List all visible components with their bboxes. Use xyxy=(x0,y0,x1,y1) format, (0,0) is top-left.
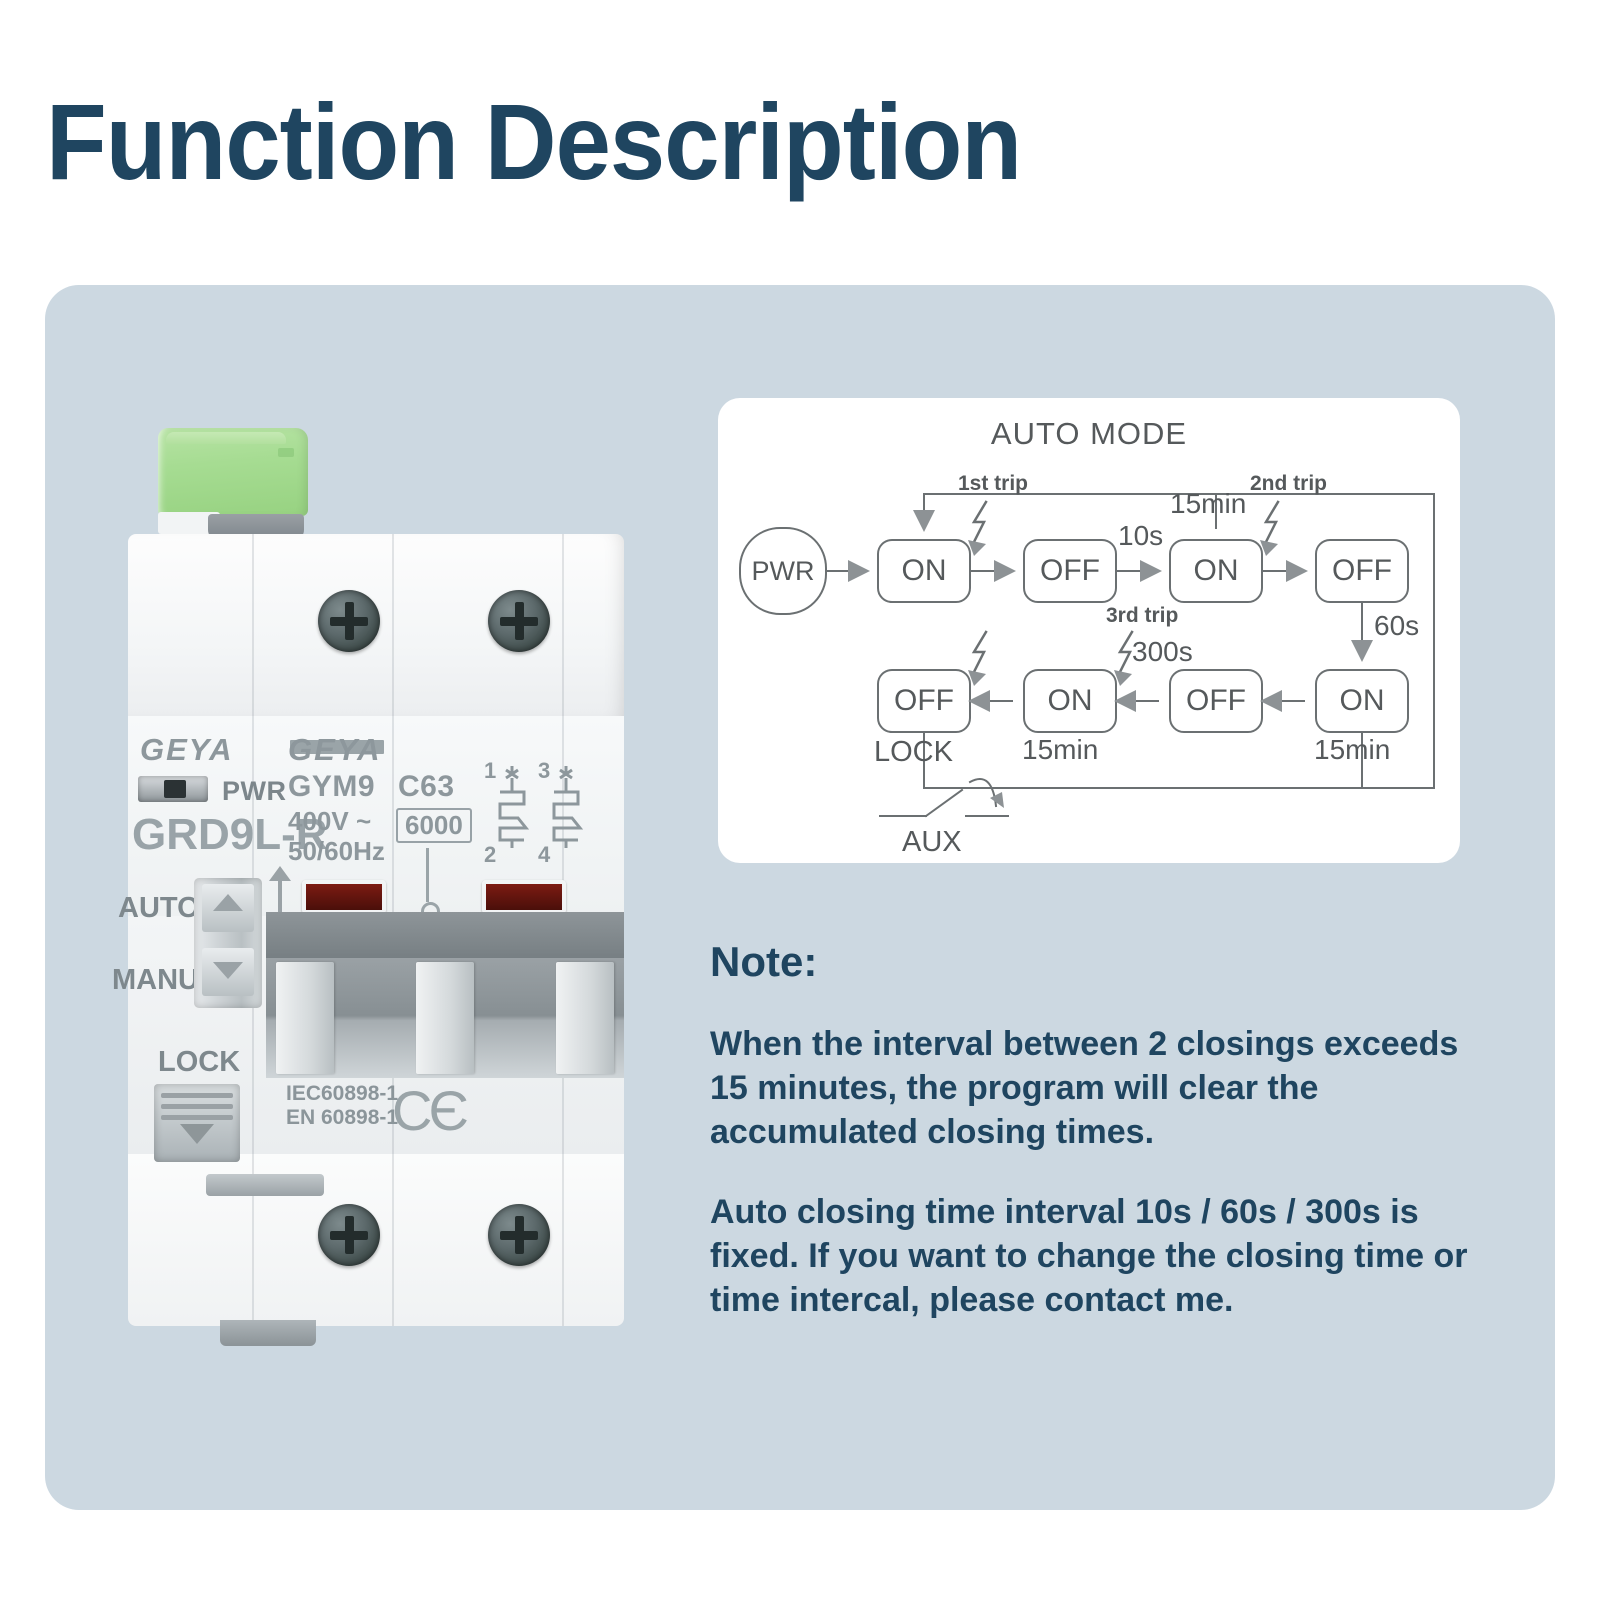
lever-position-marking xyxy=(426,848,429,902)
series-label: GYM9 xyxy=(288,770,375,804)
diagram-label-15min-b: 15min xyxy=(1022,734,1098,766)
ce-mark-icon: CЄ xyxy=(392,1078,465,1143)
auto-mode-diagram-card: AUTO MODE xyxy=(718,398,1460,863)
brand-logo-left: GEYA xyxy=(140,732,234,768)
manual-mode-label: MANU xyxy=(112,964,199,997)
power-led-window xyxy=(138,776,208,802)
diagram-node-off-1: OFF xyxy=(1024,540,1116,602)
screw-terminal-top-left xyxy=(318,590,380,652)
din-rail-clip-upper xyxy=(206,1174,324,1196)
screw-terminal-top-right xyxy=(488,590,550,652)
auto-manu-selector-switch[interactable] xyxy=(194,878,262,1008)
diagram-node-on-2: ON xyxy=(1170,540,1262,602)
page-title: Function Description xyxy=(46,88,1021,196)
diagram-label-2nd-trip: 2nd trip xyxy=(1250,472,1327,496)
diagram-label-15min-a: 15min xyxy=(1170,488,1246,520)
auto-mode-label: AUTO xyxy=(118,892,200,925)
diagram-node-off-3: OFF xyxy=(1170,670,1262,732)
toggle-lever[interactable] xyxy=(416,962,474,1074)
status-indicator-window-left xyxy=(302,880,386,914)
voltage-label: 400V ~ xyxy=(288,806,371,837)
diagram-label-15min-c: 15min xyxy=(1314,734,1390,766)
din-rail-clip-lower xyxy=(220,1320,316,1346)
screw-terminal-bottom-right xyxy=(488,1204,550,1266)
lock-label: LOCK xyxy=(158,1046,240,1079)
frequency-label: 50/60Hz xyxy=(288,836,385,867)
terminal-schematic-print: 1 3 2 4 xyxy=(482,762,592,868)
screw-terminal-bottom-left xyxy=(318,1204,380,1266)
standard-iec: IEC60898-1 xyxy=(286,1082,398,1106)
diagram-label-aux: AUX xyxy=(902,826,962,859)
toggle-shroud xyxy=(266,912,624,958)
selector-down-button[interactable] xyxy=(202,948,254,996)
toggle-lever-area[interactable] xyxy=(266,958,624,1078)
breaker-contact-symbol xyxy=(482,762,592,868)
diagram-node-on-4: ON xyxy=(1024,670,1116,732)
selector-up-button[interactable] xyxy=(202,884,254,932)
note-paragraph-1: When the interval between 2 closings exc… xyxy=(710,1022,1480,1155)
diagram-label-300s: 300s xyxy=(1132,636,1193,668)
diagram-label-60s: 60s xyxy=(1374,610,1419,642)
diagram-node-off-4: OFF xyxy=(878,670,970,732)
pwr-label: PWR xyxy=(222,776,287,807)
diagram-node-off-2: OFF xyxy=(1316,540,1408,602)
note-heading: Note: xyxy=(710,938,817,986)
diagram-label-1st-trip: 1st trip xyxy=(958,472,1028,496)
breaking-capacity-label: 6000 xyxy=(396,808,472,843)
toggle-lever[interactable] xyxy=(276,962,334,1074)
diagram-node-on-3: ON xyxy=(1316,670,1408,732)
standards-print: IEC60898-1 EN 60898-1 xyxy=(286,1082,398,1130)
toggle-lever[interactable] xyxy=(556,962,614,1074)
brand-logo-right: GEYA xyxy=(288,732,382,768)
diagram-label-lock: LOCK xyxy=(874,736,953,769)
diagram-label-10s: 10s xyxy=(1118,520,1163,552)
product-image: GEYA GEYA PWR GRD9L-R GYM9 400V ~ 50/60H… xyxy=(110,418,630,1368)
note-paragraph-2: Auto closing time interval 10s / 60s / 3… xyxy=(710,1190,1480,1323)
lock-slider[interactable] xyxy=(154,1084,240,1162)
status-indicator-window-right xyxy=(482,880,566,914)
standard-en: EN 60898-1 xyxy=(286,1106,398,1130)
curve-rating-label: C63 xyxy=(398,770,455,804)
green-terminal-cap xyxy=(158,428,308,516)
diagram-node-on-1: ON xyxy=(878,540,970,602)
diagram-label-3rd-trip: 3rd trip xyxy=(1106,604,1178,628)
diagram-node-pwr: PWR xyxy=(740,528,826,614)
